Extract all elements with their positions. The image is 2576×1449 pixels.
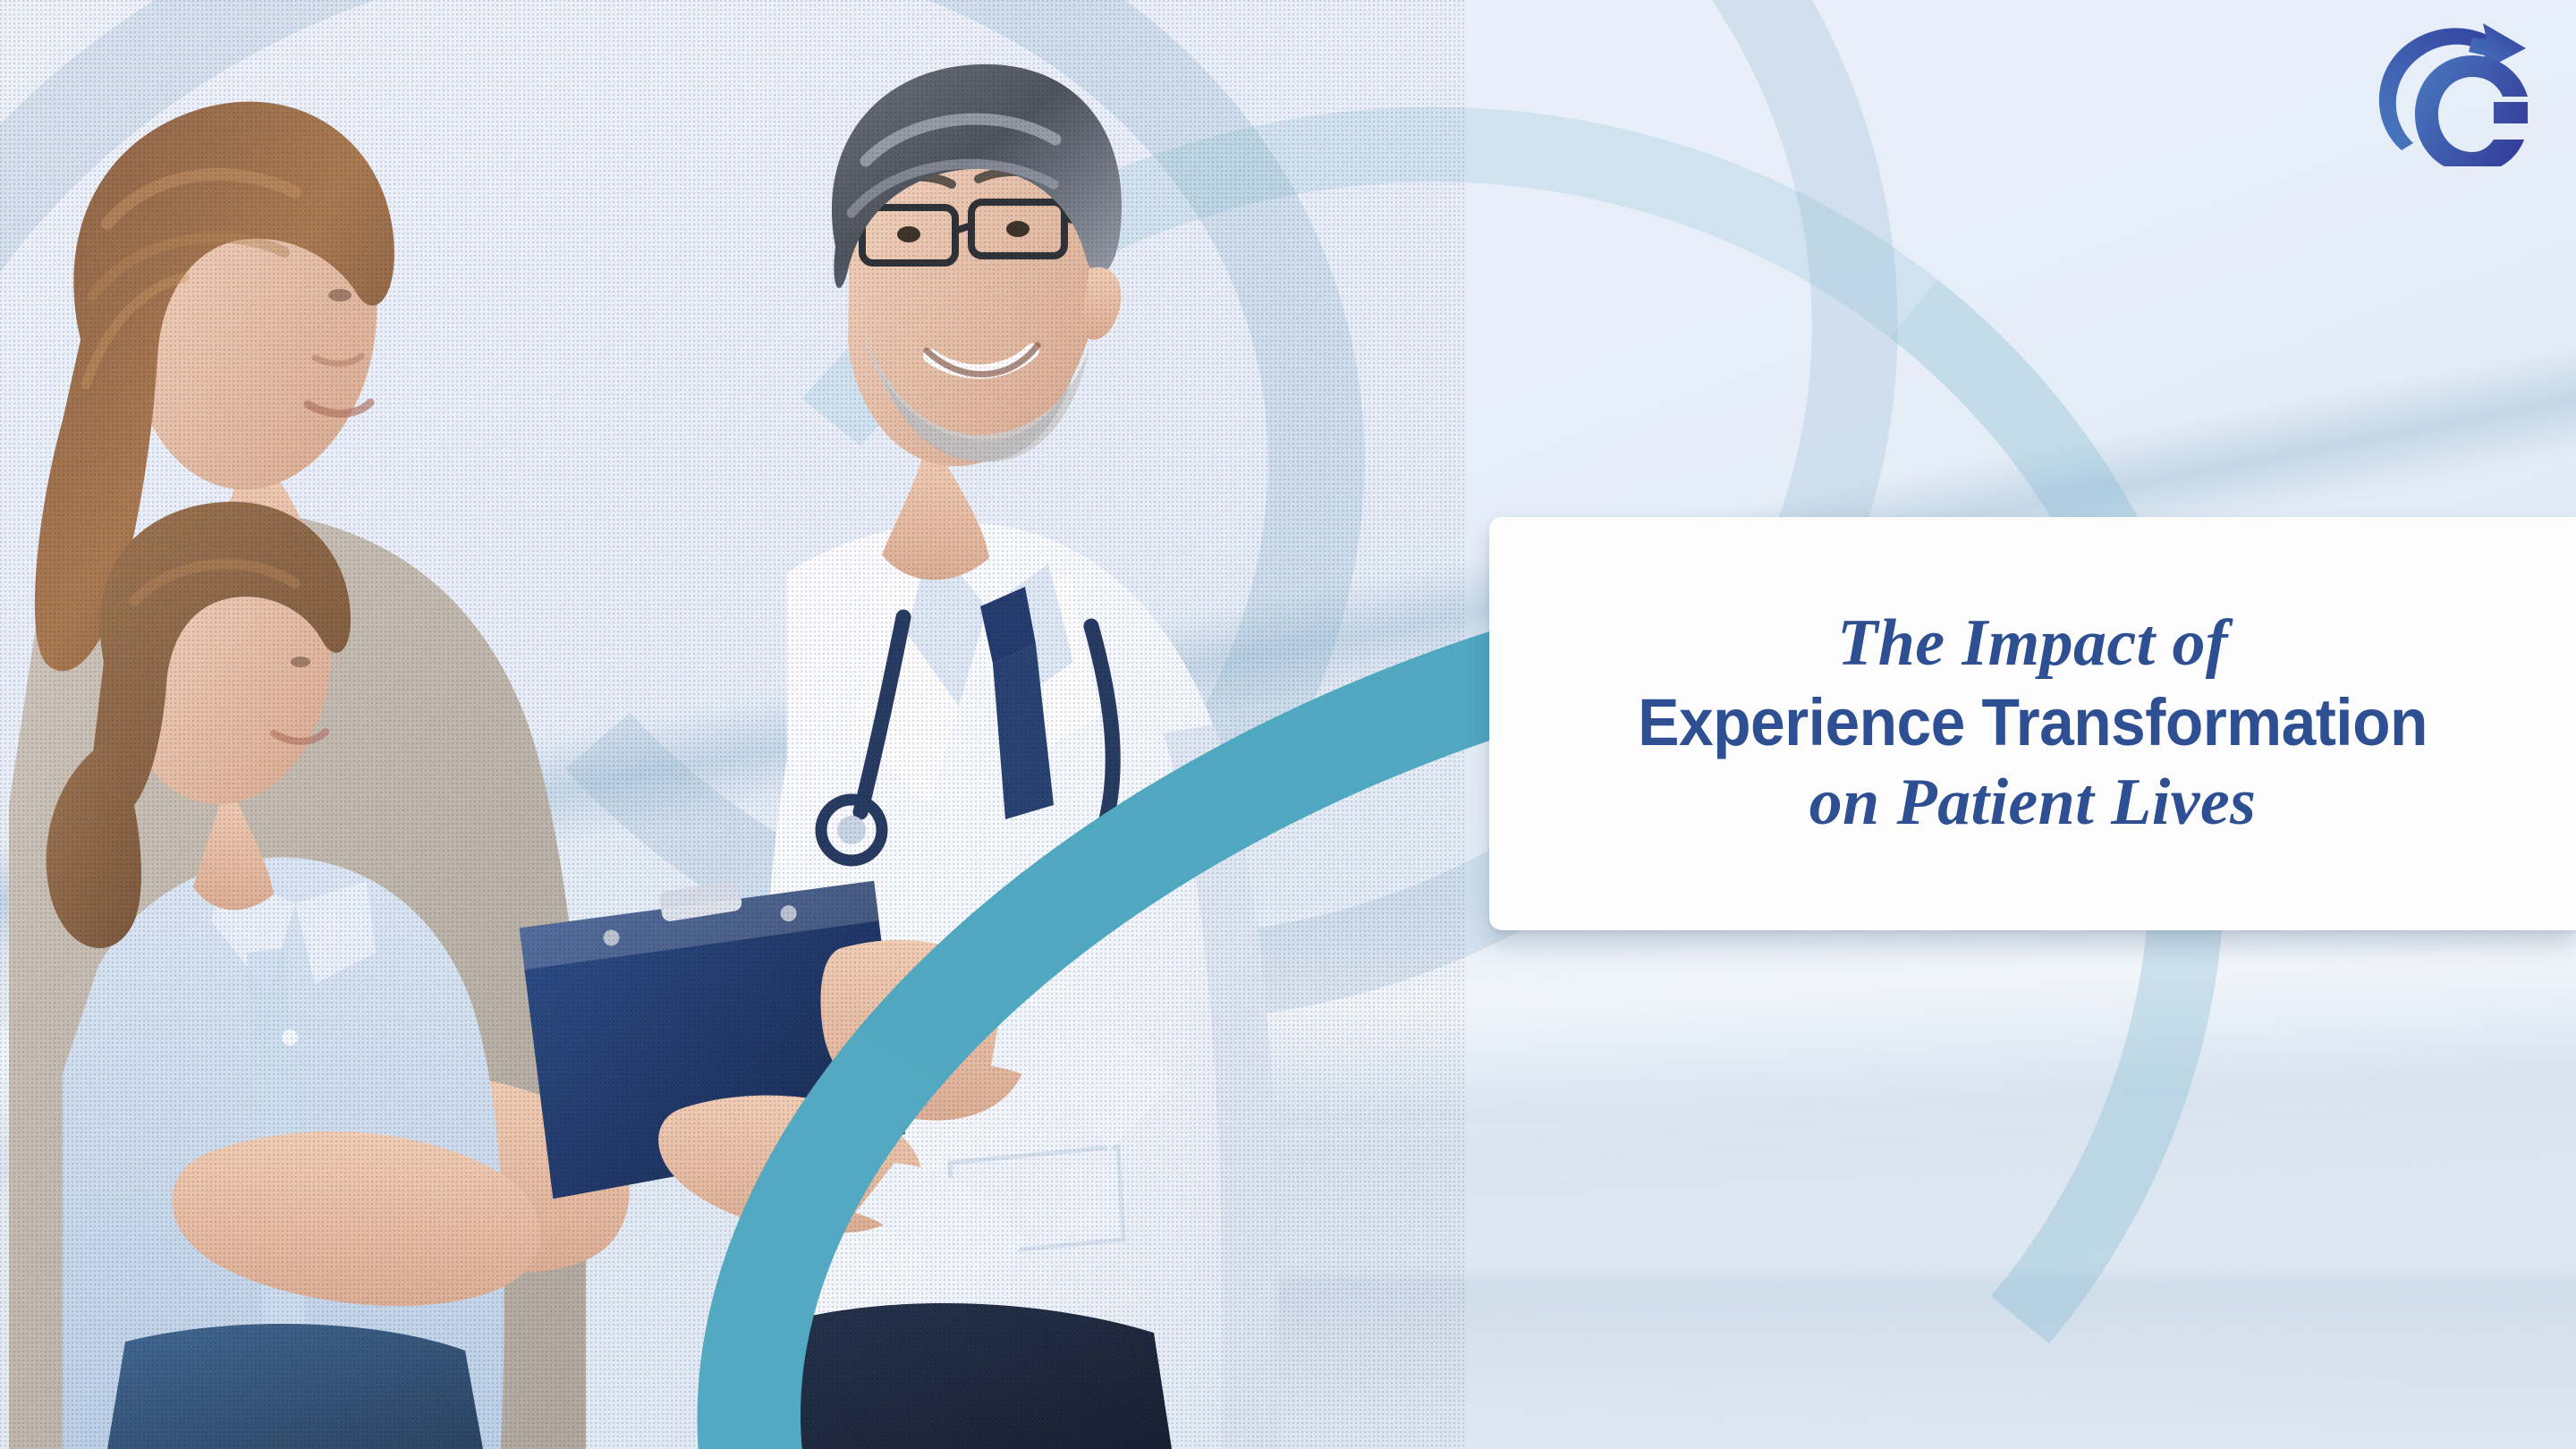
brand-logo[interactable] [2360,16,2547,166]
title-line-1: The Impact of [1837,608,2228,680]
title-line-2: Experience Transformation [1638,687,2428,758]
banner-canvas: The Impact of Experience Transformation … [0,0,2576,1449]
title-line-3: on Patient Lives [1809,767,2257,839]
logo-letter-g [2415,55,2528,166]
title-card: The Impact of Experience Transformation … [1489,517,2576,930]
